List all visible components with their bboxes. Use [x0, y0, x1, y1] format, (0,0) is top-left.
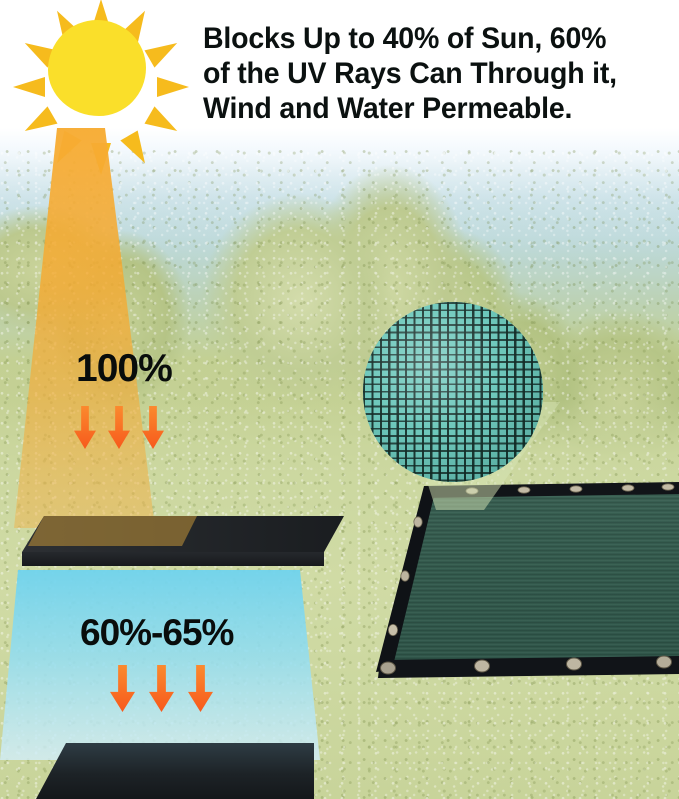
- transmitted-arrows-group: [110, 665, 213, 712]
- sun-ray-icon: [144, 34, 182, 67]
- sun-ray-icon: [13, 77, 45, 97]
- incoming-arrows-group: [74, 406, 164, 449]
- down-arrow-icon: [142, 406, 164, 449]
- lower-platform-slab: [14, 735, 364, 799]
- headline-line-3: Wind and Water Permeable.: [203, 92, 646, 127]
- down-arrow-icon: [188, 665, 213, 712]
- down-arrow-icon: [149, 665, 174, 712]
- headline-line-2: of the UV Rays Can Through it,: [203, 57, 646, 92]
- down-arrow-icon: [108, 406, 130, 449]
- page-title: Blocks Up to 40% of Sun, 60% of the UV R…: [203, 22, 646, 126]
- mesh-shading-overlay: [363, 302, 543, 482]
- sun-disc: [48, 20, 146, 116]
- transmitted-light-label: 60%-65%: [80, 612, 233, 654]
- sun-ray-icon: [157, 77, 189, 97]
- magnified-mesh-callout: [363, 302, 543, 482]
- upper-platform-slab: [14, 500, 354, 580]
- infographic-scene: Blocks Up to 40% of Sun, 60% of the UV R…: [0, 0, 679, 799]
- incoming-sunlight-label: 100%: [76, 347, 172, 391]
- down-arrow-icon: [110, 665, 135, 712]
- headline-line-1: Blocks Up to 40% of Sun, 60%: [203, 22, 646, 57]
- incoming-sunlight-beam: [0, 128, 290, 528]
- down-arrow-icon: [74, 406, 96, 449]
